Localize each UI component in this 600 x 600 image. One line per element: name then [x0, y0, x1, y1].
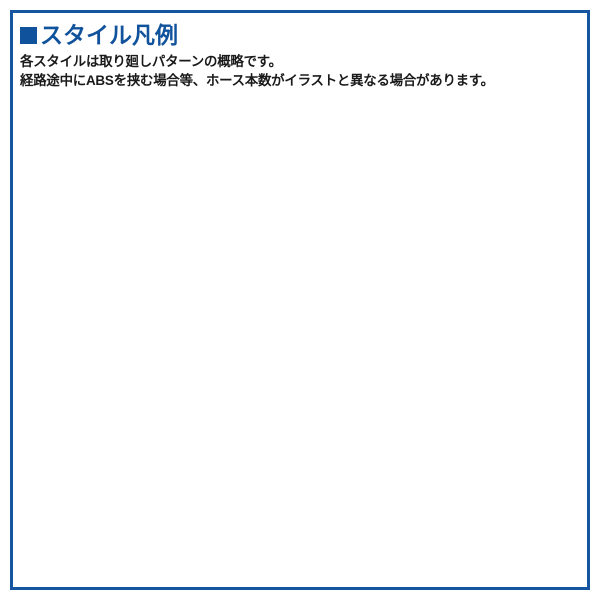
style-legend-page: スタイル凡例 各スタイルは取り廻しパターンの概略です。 経路途中にABSを挟む場… [0, 0, 600, 600]
style-diagrams [13, 13, 587, 587]
